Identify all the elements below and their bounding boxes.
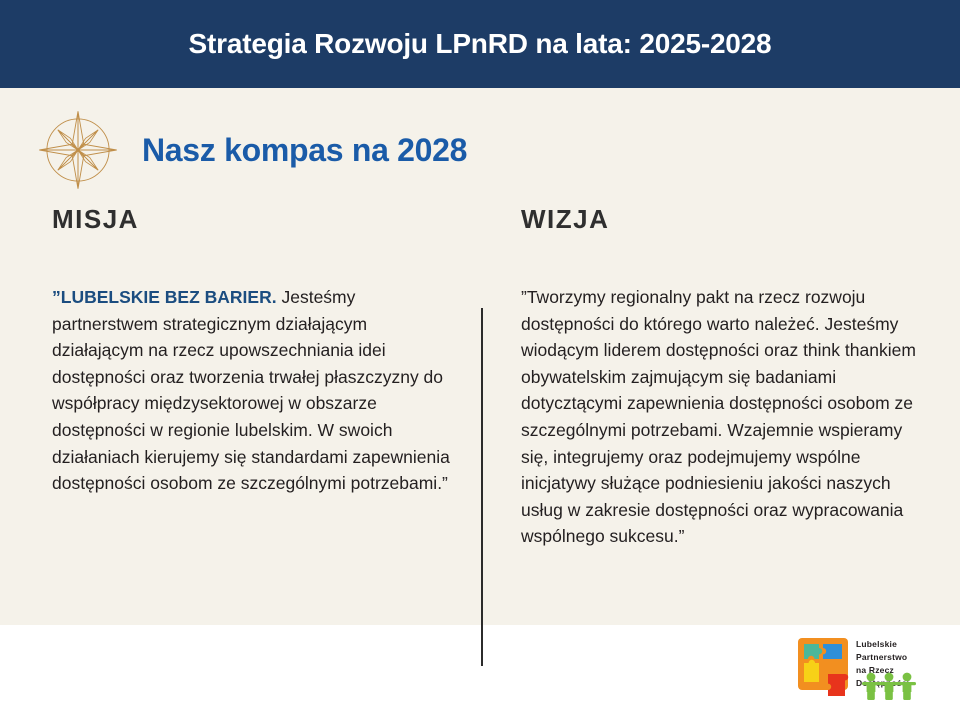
- mission-title: MISJA: [52, 206, 452, 232]
- mission-column: MISJA ”LUBELSKIE BEZ BARIER. Jesteśmy pa…: [52, 206, 452, 497]
- mission-text: ”LUBELSKIE BEZ BARIER. Jesteśmy partners…: [52, 284, 452, 497]
- mission-body: Jesteśmy partnerstwem strategicznym dzia…: [52, 287, 450, 493]
- section-heading: Nasz kompas na 2028: [142, 132, 467, 169]
- partner-logo: Lubelskie Partnerstwo na Rzecz Dostępnoś…: [798, 636, 938, 706]
- mission-lead: ”LUBELSKIE BEZ BARIER.: [52, 287, 277, 307]
- column-divider: [481, 308, 483, 666]
- two-column-region: MISJA ”LUBELSKIE BEZ BARIER. Jesteśmy pa…: [0, 206, 960, 606]
- vision-column: WIZJA ”Tworzymy regionalny pakt na rzecz…: [521, 206, 921, 550]
- header-bar: Strategia Rozwoju LPnRD na lata: 2025-20…: [0, 0, 960, 88]
- puzzle-pieces-icon: [798, 638, 860, 702]
- vision-title: WIZJA: [521, 206, 921, 232]
- slide-root: Strategia Rozwoju LPnRD na lata: 2025-20…: [0, 0, 960, 720]
- content-panel: Nasz kompas na 2028 MISJA ”LUBELSKIE BEZ…: [0, 88, 960, 625]
- three-people-icon: [858, 670, 920, 700]
- compass-heading-row: Nasz kompas na 2028: [36, 108, 916, 192]
- logo-line-1: Lubelskie: [856, 638, 942, 651]
- vision-text: ”Tworzymy regionalny pakt na rzecz rozwo…: [521, 284, 921, 550]
- page-title: Strategia Rozwoju LPnRD na lata: 2025-20…: [189, 28, 772, 60]
- logo-line-2: Partnerstwo: [856, 651, 942, 664]
- compass-rose-icon: [36, 108, 120, 192]
